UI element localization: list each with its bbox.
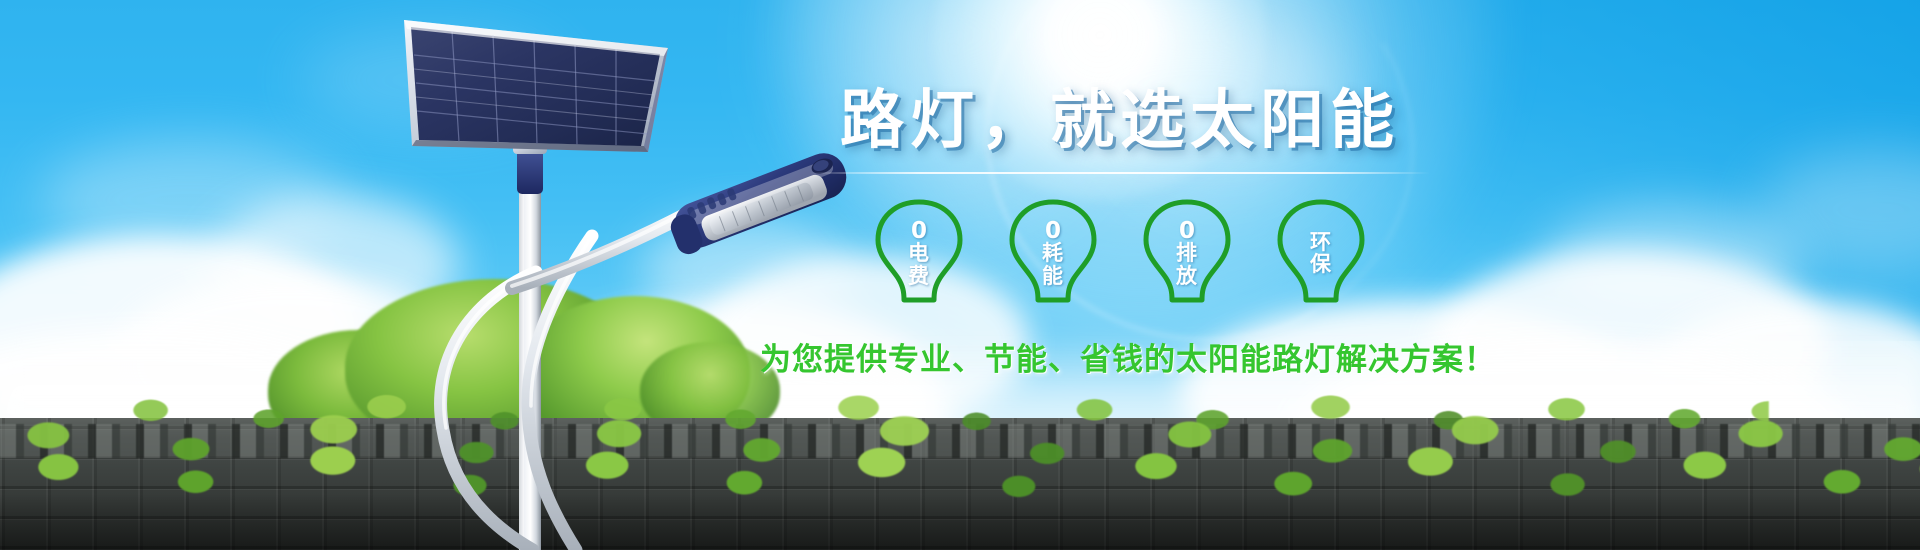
feature-badge-1-line2: 能 [1042,266,1064,288]
feature-badge-1-text: 0 耗 能 [1005,196,1101,308]
feature-badge-list: 0 电 费 0 耗 能 [760,196,1480,308]
page-title: 路灯，就选太阳能 [760,88,1480,152]
solar-panel-icon [404,20,668,152]
feature-badge-2-label: 排 放 [1176,243,1198,288]
feature-badge-1-zero: 0 [1045,220,1061,243]
feature-badge-0-text: 0 电 费 [871,196,967,308]
feature-badge-2-line2: 放 [1176,266,1198,288]
feature-badge-1-line1: 耗 [1042,243,1064,265]
feature-badge-2-text: 0 排 放 [1139,196,1235,308]
feature-badge-0: 0 电 费 [871,196,967,308]
feature-badge-3-line1: 环 [1310,232,1332,254]
feature-badge-0-line2: 费 [908,266,930,288]
feature-badge-3-label: 环 保 [1310,232,1332,277]
feature-badge-1-label: 耗 能 [1042,243,1064,288]
solar-street-lamp-banner: 路灯，就选太阳能 0 电 费 [0,0,1920,550]
feature-badge-3: 环 保 [1273,196,1369,308]
feature-badge-2: 0 排 放 [1139,196,1235,308]
feature-badge-0-zero: 0 [911,220,927,243]
feature-badge-2-line1: 排 [1176,243,1198,265]
feature-badge-0-label: 电 费 [908,243,930,288]
feature-badge-1: 0 耗 能 [1005,196,1101,308]
banner-copy-block: 路灯，就选太阳能 0 电 费 [760,88,1480,379]
feature-badge-3-text: 环 保 [1273,196,1369,308]
title-divider [810,172,1430,174]
feature-badge-0-line1: 电 [908,243,930,265]
feature-badge-2-zero: 0 [1179,220,1195,243]
feature-badge-3-line2: 保 [1310,254,1332,276]
banner-subtitle: 为您提供专业、节能、省钱的太阳能路灯解决方案！ [760,334,1480,379]
